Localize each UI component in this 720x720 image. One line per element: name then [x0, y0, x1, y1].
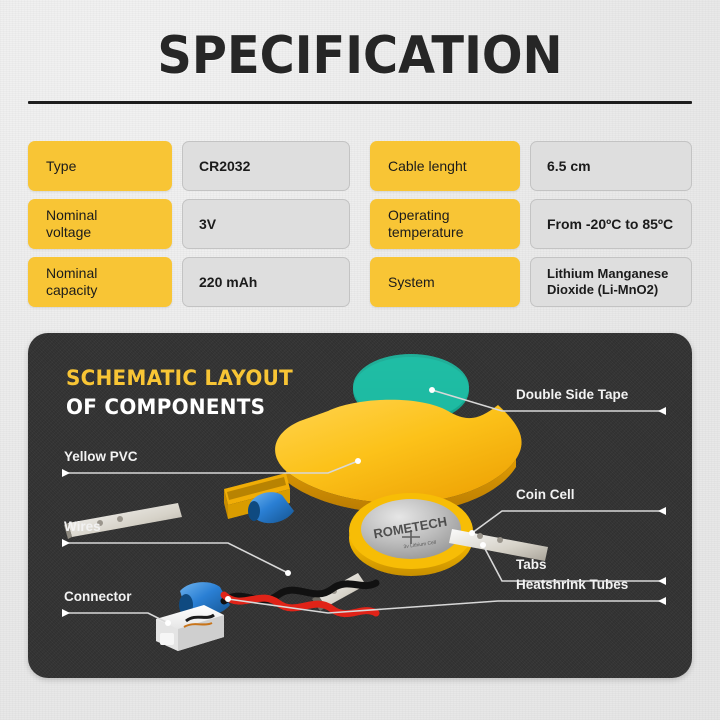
spec-key: Type — [28, 141, 172, 191]
spec-row: Type CR2032 — [28, 141, 350, 191]
callout-coin-cell: Coin Cell — [516, 487, 575, 502]
callout-tabs: Tabs — [516, 557, 547, 572]
spec-key: System — [370, 257, 520, 307]
callout-wires: Wires — [64, 519, 101, 534]
spec-value: From -20ºC to 85ºC — [530, 199, 692, 249]
spec-column-right: Cable lenght 6.5 cm Operatingtemperature… — [370, 141, 692, 315]
spec-value: 3V — [182, 199, 350, 249]
spec-value: 220 mAh — [182, 257, 350, 307]
callout-double-side-tape: Double Side Tape — [516, 387, 628, 402]
spec-value: CR2032 — [182, 141, 350, 191]
leader-endpoint-dots — [165, 387, 486, 626]
spec-row: Cable lenght 6.5 cm — [370, 141, 692, 191]
schematic-heading: SCHEMATIC LAYOUT OF COMPONENTS — [66, 365, 305, 420]
spec-column-left: Type CR2032 Nominalvoltage 3V Nominalcap… — [28, 141, 350, 315]
schematic-heading-line1: SCHEMATIC LAYOUT — [66, 365, 293, 391]
spec-row: Nominalcapacity 220 mAh — [28, 257, 350, 307]
spec-key: Nominalvoltage — [28, 199, 172, 249]
spec-row: Nominalvoltage 3V — [28, 199, 350, 249]
infographic-root: SPECIFICATION Type CR2032 Nominalvoltage… — [0, 0, 720, 720]
schematic-panel: SCHEMATIC LAYOUT OF COMPONENTS — [28, 333, 692, 678]
page-title: SPECIFICATION — [29, 28, 691, 84]
spec-value: 6.5 cm — [530, 141, 692, 191]
title-divider — [28, 101, 692, 104]
spec-key: Cable lenght — [370, 141, 520, 191]
spec-key: Operatingtemperature — [370, 199, 520, 249]
spec-value: Lithium Manganese Dioxide (Li-MnO2) — [530, 257, 692, 307]
schematic-heading-line2: OF COMPONENTS — [66, 394, 293, 420]
callout-heatshrink-tubes: Heatshrink Tubes — [516, 577, 628, 592]
callout-yellow-pvc: Yellow PVC — [64, 449, 138, 464]
spec-key: Nominalcapacity — [28, 257, 172, 307]
spec-row: System Lithium Manganese Dioxide (Li-MnO… — [370, 257, 692, 307]
callout-connector: Connector — [64, 589, 132, 604]
spec-row: Operatingtemperature From -20ºC to 85ºC — [370, 199, 692, 249]
